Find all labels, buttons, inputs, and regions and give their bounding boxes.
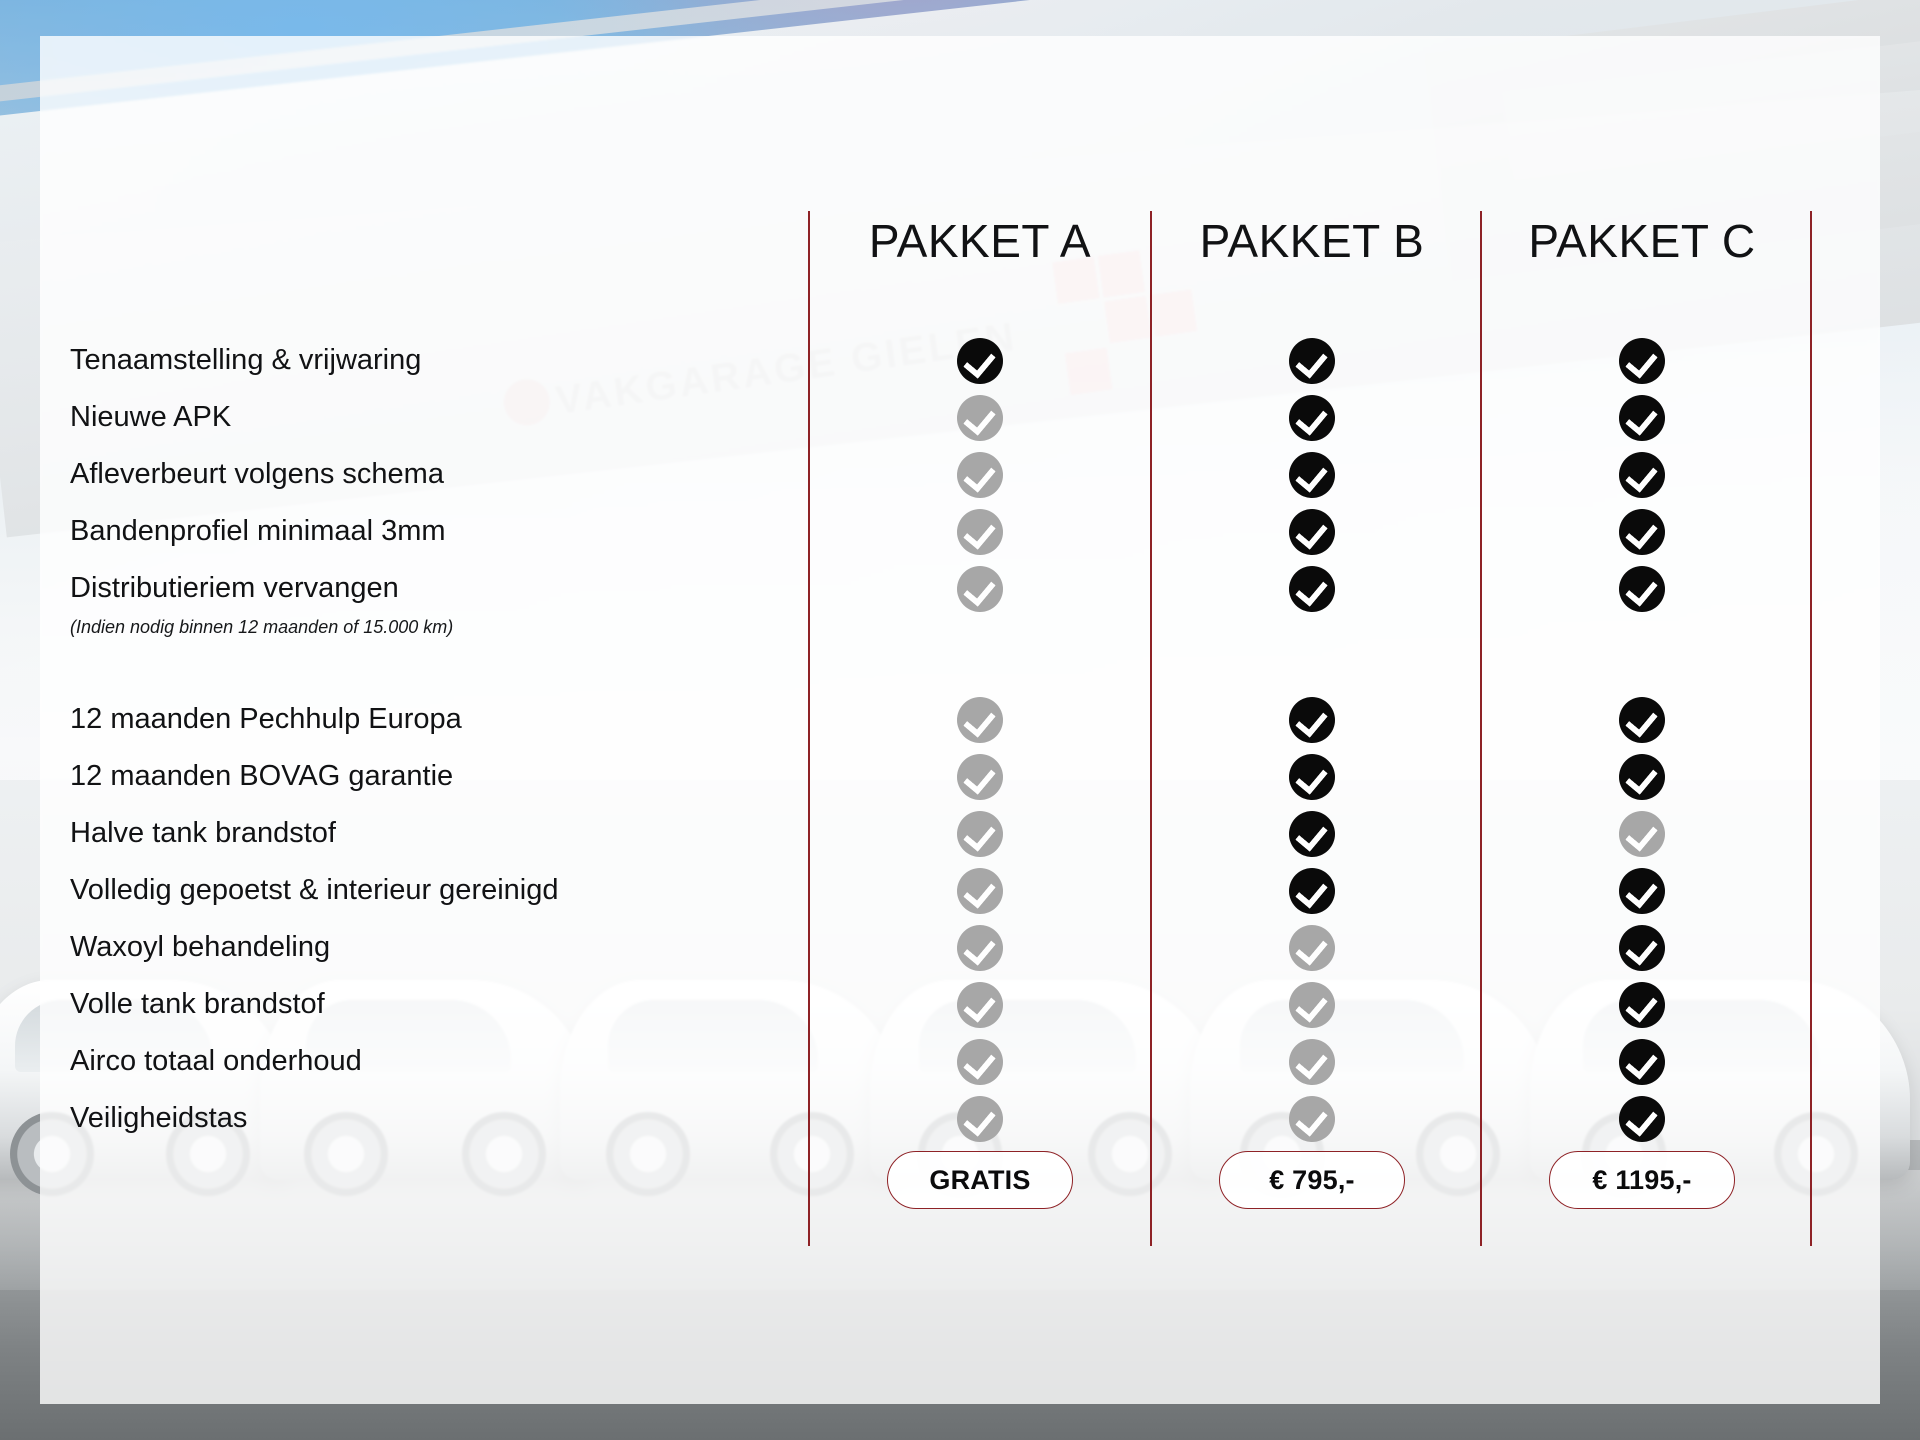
- check-cell: [1162, 862, 1462, 919]
- column-divider-right: [1480, 211, 1482, 1246]
- check-included-icon: [1289, 811, 1335, 857]
- check-excluded-icon: [957, 1039, 1003, 1085]
- price-row-pakket-a: GRATIS: [830, 1151, 1130, 1209]
- check-included-icon: [1619, 452, 1665, 498]
- feature-spacer: [70, 657, 690, 691]
- check-cell: [830, 748, 1130, 805]
- check-included-icon: [1619, 395, 1665, 441]
- check-included-icon: [1619, 868, 1665, 914]
- feature-label: Tenaamstelling & vrijwaring: [70, 332, 690, 389]
- check-cell: [1162, 976, 1462, 1033]
- feature-label: Airco totaal onderhoud: [70, 1033, 690, 1090]
- check-excluded-icon: [957, 566, 1003, 612]
- feature-label: Waxoyl behandeling: [70, 919, 690, 976]
- comparison-table-screen: VAKGARAGE GIELEN: [0, 0, 1920, 1440]
- check-included-icon: [1289, 566, 1335, 612]
- check-included-icon: [1289, 509, 1335, 555]
- check-cell: [1162, 1090, 1462, 1147]
- check-cell: [1162, 389, 1462, 446]
- check-excluded-icon: [957, 1096, 1003, 1142]
- price-row-pakket-b: € 795,-: [1162, 1151, 1462, 1209]
- check-cell-spacer: [1162, 617, 1462, 657]
- column-header-pakket-b: PAKKET B: [1162, 214, 1462, 268]
- check-column-pakket-b: [1162, 332, 1462, 1147]
- check-excluded-icon: [1289, 1039, 1335, 1085]
- check-column-pakket-c: [1492, 332, 1792, 1147]
- price-button-pakket-c[interactable]: € 1195,-: [1549, 1151, 1735, 1209]
- check-cell: [830, 332, 1130, 389]
- feature-label: Afleverbeurt volgens schema: [70, 446, 690, 503]
- check-excluded-icon: [957, 811, 1003, 857]
- check-included-icon: [1619, 697, 1665, 743]
- check-cell: [830, 976, 1130, 1033]
- check-cell: [1162, 691, 1462, 748]
- column-header-pakket-a: PAKKET A: [830, 214, 1130, 268]
- feature-footnote: (Indien nodig binnen 12 maanden of 15.00…: [70, 617, 690, 657]
- check-excluded-icon: [1289, 982, 1335, 1028]
- check-cell: [1492, 748, 1792, 805]
- check-included-icon: [1619, 509, 1665, 555]
- feature-label: Veiligheidstas: [70, 1090, 690, 1147]
- check-included-icon: [1289, 452, 1335, 498]
- check-included-icon: [1289, 697, 1335, 743]
- check-cell: [1162, 919, 1462, 976]
- check-included-icon: [1619, 1096, 1665, 1142]
- check-cell: [1162, 748, 1462, 805]
- check-cell: [1162, 446, 1462, 503]
- feature-label: Distributieriem vervangen: [70, 560, 690, 617]
- check-cell: [1492, 1090, 1792, 1147]
- package-comparison-table: PAKKET A PAKKET B PAKKET C Tenaamstellin…: [40, 36, 1880, 1404]
- check-cell: [830, 503, 1130, 560]
- check-included-icon: [1619, 925, 1665, 971]
- check-cell: [830, 1090, 1130, 1147]
- check-cell: [1162, 560, 1462, 617]
- check-cell: [1492, 862, 1792, 919]
- check-included-icon: [1619, 1039, 1665, 1085]
- check-included-icon: [1289, 338, 1335, 384]
- check-cell: [1492, 1033, 1792, 1090]
- check-excluded-icon: [957, 868, 1003, 914]
- check-cell-spacer: [1492, 617, 1792, 657]
- check-cell: [1492, 919, 1792, 976]
- check-included-icon: [1289, 868, 1335, 914]
- check-cell: [830, 862, 1130, 919]
- check-cell: [1162, 1033, 1462, 1090]
- content-panel: PAKKET A PAKKET B PAKKET C Tenaamstellin…: [40, 36, 1880, 1404]
- price-button-pakket-b[interactable]: € 795,-: [1219, 1151, 1405, 1209]
- check-cell: [1492, 691, 1792, 748]
- feature-label: Halve tank brandstof: [70, 805, 690, 862]
- check-included-icon: [1619, 754, 1665, 800]
- feature-label: 12 maanden Pechhulp Europa: [70, 691, 690, 748]
- check-cell: [830, 1033, 1130, 1090]
- check-cell: [1492, 332, 1792, 389]
- check-cell-spacer: [830, 657, 1130, 691]
- check-cell: [830, 560, 1130, 617]
- check-excluded-icon: [957, 452, 1003, 498]
- column-header-pakket-c: PAKKET C: [1492, 214, 1792, 268]
- column-divider-end: [1810, 211, 1812, 1246]
- check-cell-spacer: [830, 617, 1130, 657]
- check-cell: [1162, 805, 1462, 862]
- check-cell: [1492, 446, 1792, 503]
- column-divider-left: [808, 211, 810, 1246]
- check-cell-spacer: [1492, 657, 1792, 691]
- check-excluded-icon: [1619, 811, 1665, 857]
- check-excluded-icon: [1289, 1096, 1335, 1142]
- check-cell: [1492, 560, 1792, 617]
- price-button-pakket-a[interactable]: GRATIS: [887, 1151, 1073, 1209]
- check-cell: [830, 691, 1130, 748]
- check-cell: [830, 446, 1130, 503]
- check-cell: [1492, 503, 1792, 560]
- column-divider-middle: [1150, 211, 1152, 1246]
- check-excluded-icon: [957, 697, 1003, 743]
- price-row-pakket-c: € 1195,-: [1492, 1151, 1792, 1209]
- check-included-icon: [1289, 754, 1335, 800]
- feature-label: Bandenprofiel minimaal 3mm: [70, 503, 690, 560]
- check-cell: [1492, 389, 1792, 446]
- check-cell-spacer: [1162, 657, 1462, 691]
- check-cell: [830, 805, 1130, 862]
- check-column-pakket-a: [830, 332, 1130, 1147]
- check-cell: [1162, 503, 1462, 560]
- check-included-icon: [1619, 566, 1665, 612]
- check-cell: [830, 389, 1130, 446]
- feature-label: Volle tank brandstof: [70, 976, 690, 1033]
- check-cell: [1492, 976, 1792, 1033]
- check-excluded-icon: [957, 754, 1003, 800]
- check-included-icon: [1619, 338, 1665, 384]
- check-excluded-icon: [1289, 925, 1335, 971]
- feature-label: Nieuwe APK: [70, 389, 690, 446]
- check-cell: [830, 919, 1130, 976]
- check-included-icon: [1289, 395, 1335, 441]
- check-included-icon: [957, 338, 1003, 384]
- feature-label: 12 maanden BOVAG garantie: [70, 748, 690, 805]
- check-excluded-icon: [957, 395, 1003, 441]
- check-excluded-icon: [957, 982, 1003, 1028]
- check-excluded-icon: [957, 509, 1003, 555]
- check-excluded-icon: [957, 925, 1003, 971]
- check-cell: [1162, 332, 1462, 389]
- check-included-icon: [1619, 982, 1665, 1028]
- feature-label-list: Tenaamstelling & vrijwaringNieuwe APKAfl…: [70, 332, 690, 1147]
- feature-label: Volledig gepoetst & interieur gereinigd: [70, 862, 690, 919]
- check-cell: [1492, 805, 1792, 862]
